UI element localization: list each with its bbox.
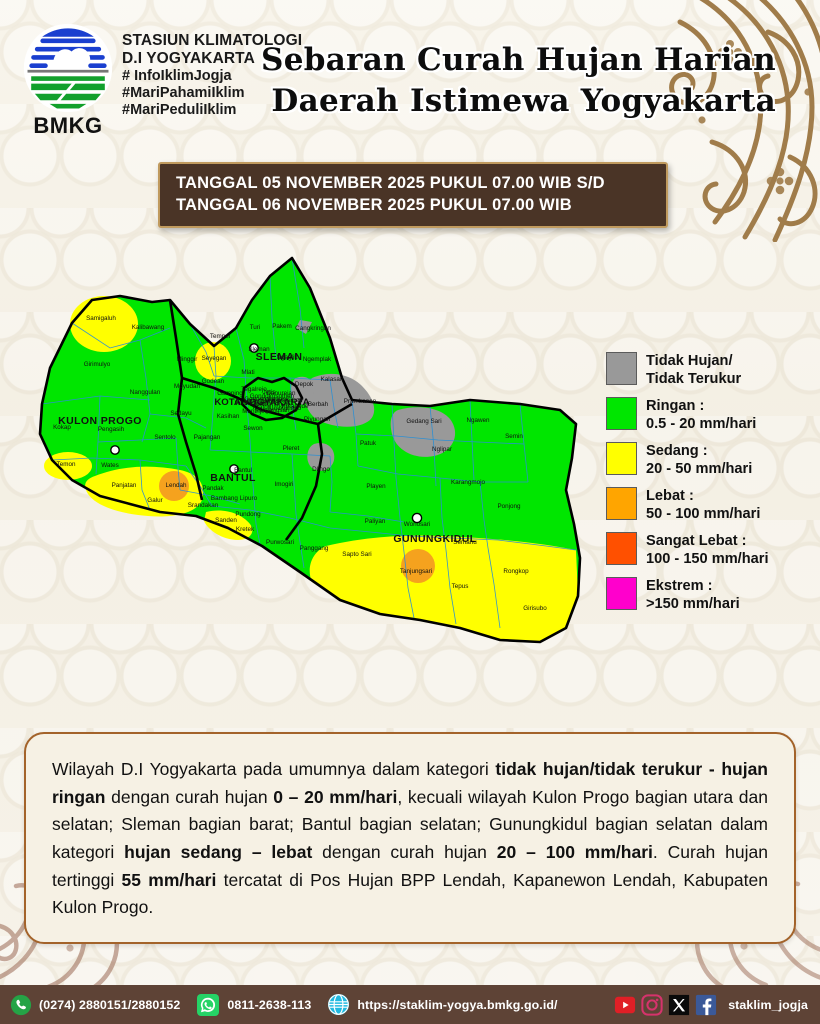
- globe-icon: [327, 993, 350, 1016]
- legend-swatch-ringan: [606, 397, 637, 430]
- legend-item-tidak-hujan: Tidak Hujan/ Tidak Terukur: [606, 352, 812, 388]
- description-emphasis: 55 mm/hari: [122, 870, 217, 890]
- bmkg-logo-icon: [22, 22, 114, 114]
- legend-item-sedang: Sedang : 20 - 50 mm/hari: [606, 442, 812, 478]
- legend-label-sedang-1: Sedang :: [646, 443, 752, 461]
- date-line-end: TANGGAL 06 NOVEMBER 2025 PUKUL 07.00 WIB: [176, 194, 652, 216]
- map-label-district: Tempel: [210, 333, 230, 340]
- description-emphasis: 0 – 20 mm/hari: [273, 787, 397, 807]
- map-label-regency: KULON PROGO: [58, 415, 142, 427]
- legend-swatch-lebat: [606, 487, 637, 520]
- map-label-district: Girisubo: [523, 605, 547, 612]
- map-label-district: Piyungan: [304, 416, 331, 423]
- description-text: Wilayah D.I Yogyakarta pada umumnya dala…: [52, 756, 768, 922]
- map-label-district: Seyegan: [202, 355, 227, 362]
- map-label-district: Cangkringan: [295, 325, 331, 332]
- map-label-district: Sedayu: [170, 410, 192, 417]
- rainfall-map[interactable]: SamigaluhKalibawangGirimulyoNanggulanKok…: [0, 228, 600, 698]
- map-label-district: Patuk: [360, 440, 377, 447]
- map-label-district: Sewon: [243, 425, 263, 432]
- map-label-district: Moyudan: [174, 383, 200, 390]
- page-title: Sebaran Curah Hujan Harian Daerah Istime…: [256, 40, 776, 122]
- legend-label-ringan-2: 0.5 - 20 mm/hari: [646, 416, 756, 434]
- map-label-district: Mlati: [241, 369, 254, 376]
- footer-website[interactable]: https://staklim-yogya.bmkg.go.id/: [327, 993, 557, 1016]
- map-label-regency: SLEMAN: [256, 351, 303, 363]
- map-label-district: Playen: [366, 483, 386, 490]
- footer-website-text: https://staklim-yogya.bmkg.go.id/: [357, 998, 557, 1012]
- map-label-district: Pengasih: [98, 426, 125, 433]
- map-label-district: Samigaluh: [86, 315, 116, 322]
- map-label-district: Pundong: [235, 511, 261, 518]
- map-label-district: Nanggulan: [130, 389, 161, 396]
- legend-label-tidak-hujan-1: Tidak Hujan/: [646, 353, 741, 371]
- map-label-district: Pajangan: [194, 434, 221, 441]
- map-label-district: Sapto Sari: [342, 551, 371, 558]
- legend-label-ekstrem-2: >150 mm/hari: [646, 596, 740, 614]
- bmkg-wordmark: BMKG: [18, 113, 118, 139]
- phone-icon: [10, 994, 32, 1016]
- map-label-district: Tanjungsari: [400, 568, 432, 575]
- map-label-district: Rongkop: [503, 568, 529, 575]
- legend-label-tidak-hujan-2: Tidak Terukur: [646, 371, 741, 389]
- map-label-regency: GUNUNGKIDUL: [393, 533, 476, 545]
- patch-tanjungsari-lebat: [401, 549, 435, 583]
- footer-whatsapp-text: 0811-2638-113: [227, 998, 311, 1012]
- legend-item-sangat-lebat: Sangat Lebat : 100 - 150 mm/hari: [606, 532, 812, 568]
- legend-label-lebat-2: 50 - 100 mm/hari: [646, 506, 760, 524]
- description-box: Wilayah D.I Yogyakarta pada umumnya dala…: [24, 732, 796, 944]
- footer-whatsapp[interactable]: 0811-2638-113: [196, 993, 311, 1017]
- map-label-district: Gedang Sari: [406, 418, 441, 425]
- map-label-district: Minggir: [177, 356, 198, 363]
- map-svg[interactable]: SamigaluhKalibawangGirimulyoNanggulanKok…: [0, 228, 600, 698]
- legend-item-ringan: Ringan : 0.5 - 20 mm/hari: [606, 397, 812, 433]
- title-line-1: Sebaran Curah Hujan Harian: [256, 40, 776, 81]
- map-label-district: Tepus: [452, 583, 469, 590]
- whatsapp-icon: [196, 993, 220, 1017]
- map-label-district: Temon: [57, 461, 76, 468]
- legend-item-lebat: Lebat : 50 - 100 mm/hari: [606, 487, 812, 523]
- map-label-district: Semin: [505, 433, 523, 440]
- legend-label-ekstrem-1: Ekstrem :: [646, 578, 740, 596]
- footer-phone[interactable]: (0274) 2880151/2880152: [10, 994, 180, 1016]
- map-label-district: Panggang: [300, 545, 329, 552]
- bmkg-logo: BMKG: [18, 22, 118, 139]
- map-label-district: Pandak: [202, 485, 224, 492]
- map-label-district: Sentolo: [154, 434, 176, 441]
- legend-swatch-sangat-lebat: [606, 532, 637, 565]
- legend-swatch-tidak-hujan: [606, 352, 637, 385]
- map-label-district: Purwosari: [266, 539, 294, 546]
- map-label-district: Dlingo: [312, 466, 330, 473]
- x-twitter-icon[interactable]: [668, 994, 690, 1016]
- header: BMKG STASIUN KLIMATOLOGI D.I YOGYAKARTA …: [0, 0, 820, 150]
- map-label-district: Turi: [250, 324, 261, 331]
- title-line-2: Daerah Istimewa Yogyakarta: [256, 81, 776, 122]
- map-label-district: Kasihan: [217, 413, 240, 420]
- map-label-district: Galur: [147, 497, 162, 504]
- legend-label-sangat-lebat-2: 100 - 150 mm/hari: [646, 551, 769, 569]
- legend-swatch-ekstrem: [606, 577, 637, 610]
- legend-label-sedang-2: 20 - 50 mm/hari: [646, 461, 752, 479]
- legend-label-ringan-1: Ringan :: [646, 398, 756, 416]
- map-label-district: Sanden: [215, 517, 237, 524]
- map-label-district: Paliyan: [365, 518, 386, 525]
- footer-contact-bar: (0274) 2880151/2880152 0811-2638-113 htt…: [0, 985, 820, 1024]
- map-label-district: Kalasan: [321, 376, 344, 383]
- legend-item-ekstrem: Ekstrem : >150 mm/hari: [606, 577, 812, 613]
- map-label-district: Ponjong: [497, 503, 521, 510]
- map-label-district: Karangmojo: [451, 479, 485, 486]
- map-label-regency: KOTA YOGYAKARTA: [214, 397, 309, 408]
- marker-wates: [111, 446, 119, 454]
- footer-phone-text: (0274) 2880151/2880152: [39, 998, 180, 1012]
- youtube-icon[interactable]: [614, 994, 636, 1016]
- map-label-district: Wonosari: [404, 521, 430, 528]
- footer-social-handle: staklim_jogja: [728, 998, 808, 1012]
- map-label-district: Nglipar: [432, 446, 452, 453]
- legend-label-sangat-lebat-1: Sangat Lebat :: [646, 533, 769, 551]
- map-label-district: Lendah: [165, 482, 187, 489]
- map-label-district: Kretek: [236, 526, 255, 533]
- date-line-start: TANGGAL 05 NOVEMBER 2025 PUKUL 07.00 WIB…: [176, 172, 652, 194]
- legend-swatch-sedang: [606, 442, 637, 475]
- map-label-district: Pakem: [272, 323, 292, 330]
- description-emphasis: tidak hujan/tidak terukur - hujan ringan: [52, 759, 768, 807]
- map-label-regency: BANTUL: [210, 472, 256, 484]
- map-label-district: Bambang Lipuro: [211, 495, 258, 502]
- map-label-district: Godean: [202, 378, 225, 385]
- footer-social[interactable]: staklim_jogja: [614, 994, 820, 1016]
- map-label-district: Pleret: [283, 445, 300, 452]
- date-range-banner: TANGGAL 05 NOVEMBER 2025 PUKUL 07.00 WIB…: [158, 162, 668, 228]
- map-label-district: Srandakan: [188, 502, 219, 509]
- map-label-district: Imogiri: [275, 481, 294, 488]
- legend-label-lebat-1: Lebat :: [646, 488, 760, 506]
- map-label-district: Girimulyo: [84, 361, 111, 368]
- map-label-district: Prambanan: [344, 398, 377, 405]
- map-label-district: Panjatan: [112, 482, 137, 489]
- map-label-district: Depok: [295, 381, 314, 388]
- description-emphasis: 20 – 100 mm/hari: [497, 842, 653, 862]
- map-legend: Tidak Hujan/ Tidak Terukur Ringan : 0.5 …: [606, 352, 812, 622]
- map-label-district: Kalibawang: [132, 324, 165, 331]
- instagram-icon[interactable]: [641, 994, 663, 1016]
- map-label-district: Ngemplak: [303, 356, 332, 363]
- map-label-district: Berbah: [308, 401, 329, 408]
- map-label-district: Ngawen: [466, 417, 490, 424]
- facebook-icon[interactable]: [695, 994, 717, 1016]
- description-emphasis: hujan sedang – lebat: [124, 842, 312, 862]
- map-label-district: Wates: [101, 462, 119, 469]
- map-label-district: Gamping: [217, 390, 243, 397]
